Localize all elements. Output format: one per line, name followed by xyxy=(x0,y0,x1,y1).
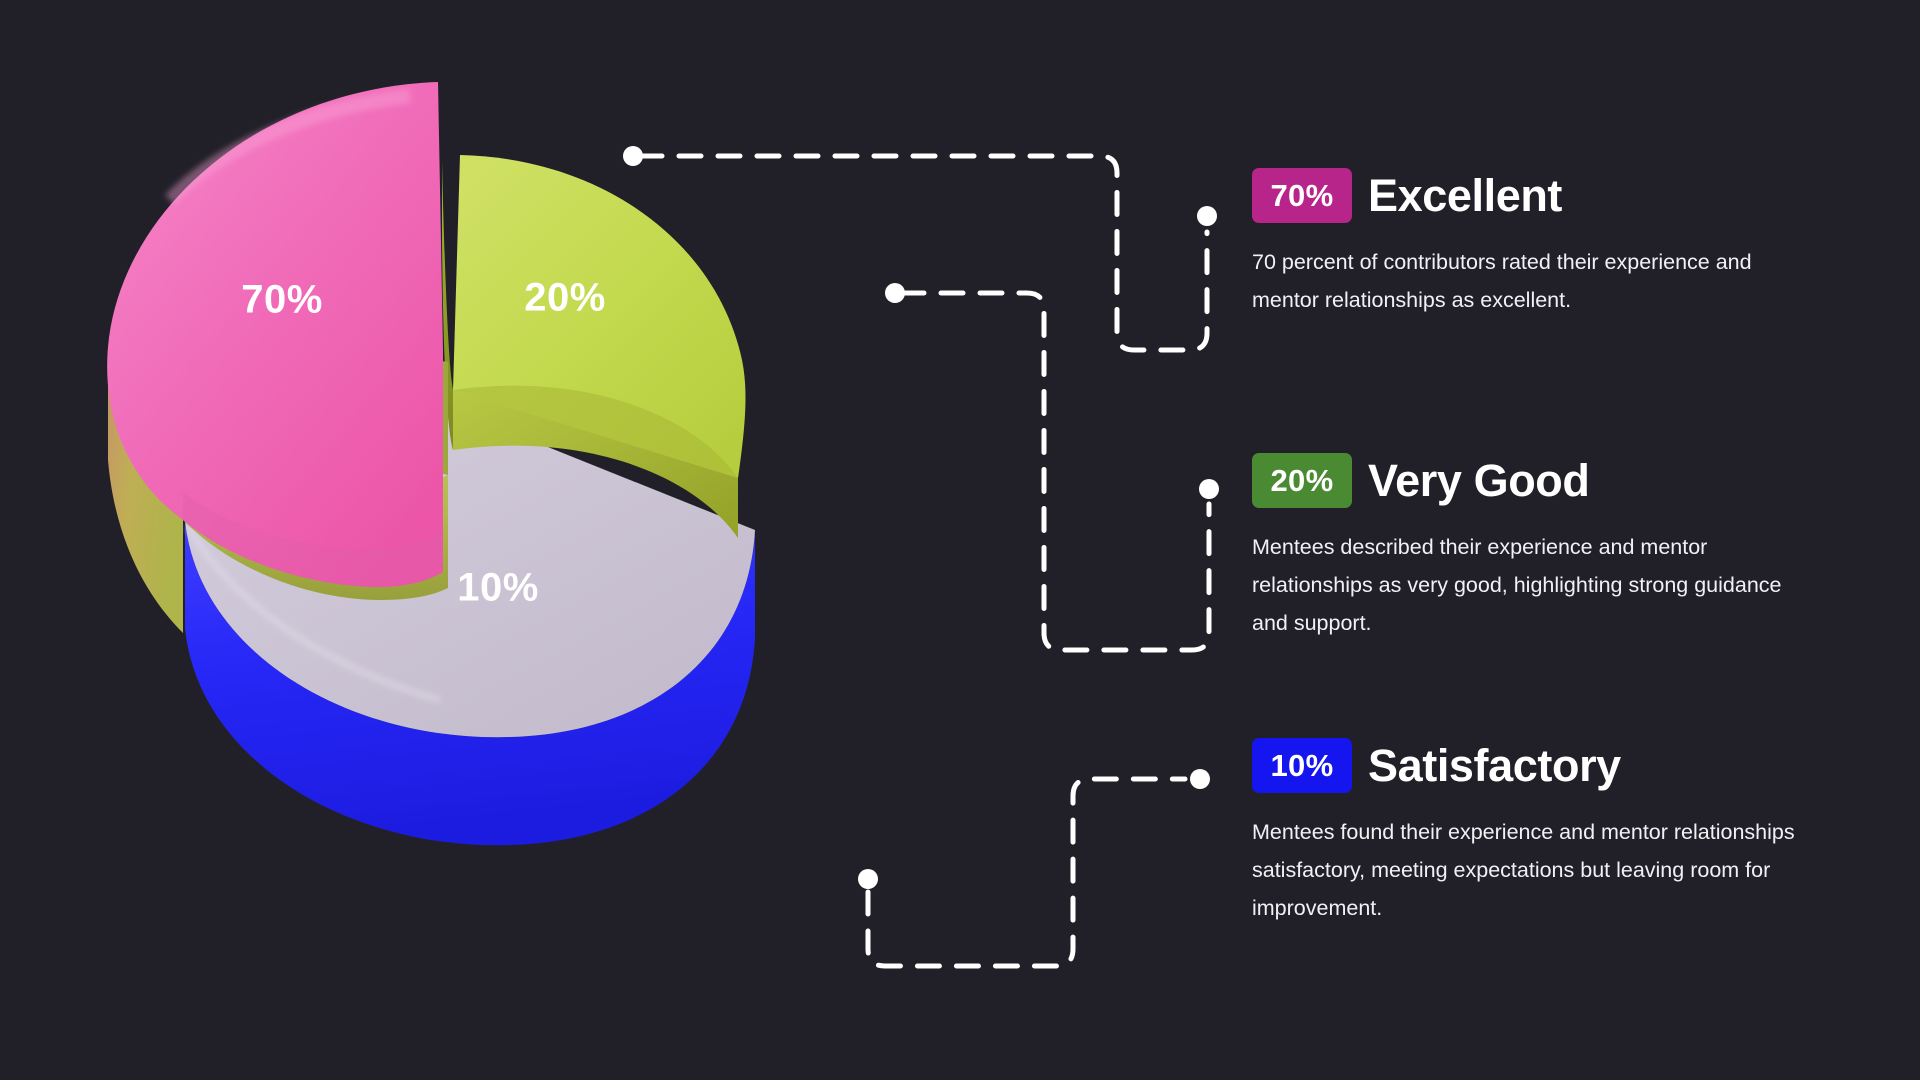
connector-satisfactory-dot-end xyxy=(1190,769,1210,789)
legend-title-excellent: Excellent xyxy=(1368,173,1562,218)
legend-title-satisfactory: Satisfactory xyxy=(1368,743,1621,788)
slice-label-very-good: 20% xyxy=(524,276,606,320)
legend-item-very-good[interactable]: 20% Very Good Mentees described their ex… xyxy=(1252,453,1832,642)
legend-head-very-good: 20% Very Good xyxy=(1252,453,1832,508)
legend-item-satisfactory[interactable]: 10% Satisfactory Mentees found their exp… xyxy=(1252,738,1832,927)
connector-very-good-dot-end xyxy=(1199,479,1219,499)
legend-head-excellent: 70% Excellent xyxy=(1252,168,1832,223)
slice-label-excellent: 70% xyxy=(241,278,323,322)
slice-label-satisfactory: 10% xyxy=(457,566,539,610)
legend-title-very-good: Very Good xyxy=(1368,458,1589,503)
badge-very-good: 20% xyxy=(1252,453,1352,508)
badge-satisfactory: 10% xyxy=(1252,738,1352,793)
legend-head-satisfactory: 10% Satisfactory xyxy=(1252,738,1832,793)
pie-chart-3d: 10% 20% xyxy=(80,60,1020,1020)
legend-panel: 70% Excellent 70 percent of contributors… xyxy=(1252,0,1852,1080)
pie-chart-svg: 10% 20% xyxy=(80,60,1020,1020)
connector-excellent-dot-end xyxy=(1197,206,1217,226)
infographic-canvas: 10% 20% xyxy=(0,0,1920,1080)
legend-description-excellent: 70 percent of contributors rated their e… xyxy=(1252,243,1797,319)
legend-description-very-good: Mentees described their experience and m… xyxy=(1252,528,1797,642)
legend-description-satisfactory: Mentees found their experience and mento… xyxy=(1252,813,1797,927)
legend-item-excellent[interactable]: 70% Excellent 70 percent of contributors… xyxy=(1252,168,1832,319)
badge-excellent: 70% xyxy=(1252,168,1352,223)
pie-slice-excellent[interactable]: 70% xyxy=(107,82,448,633)
